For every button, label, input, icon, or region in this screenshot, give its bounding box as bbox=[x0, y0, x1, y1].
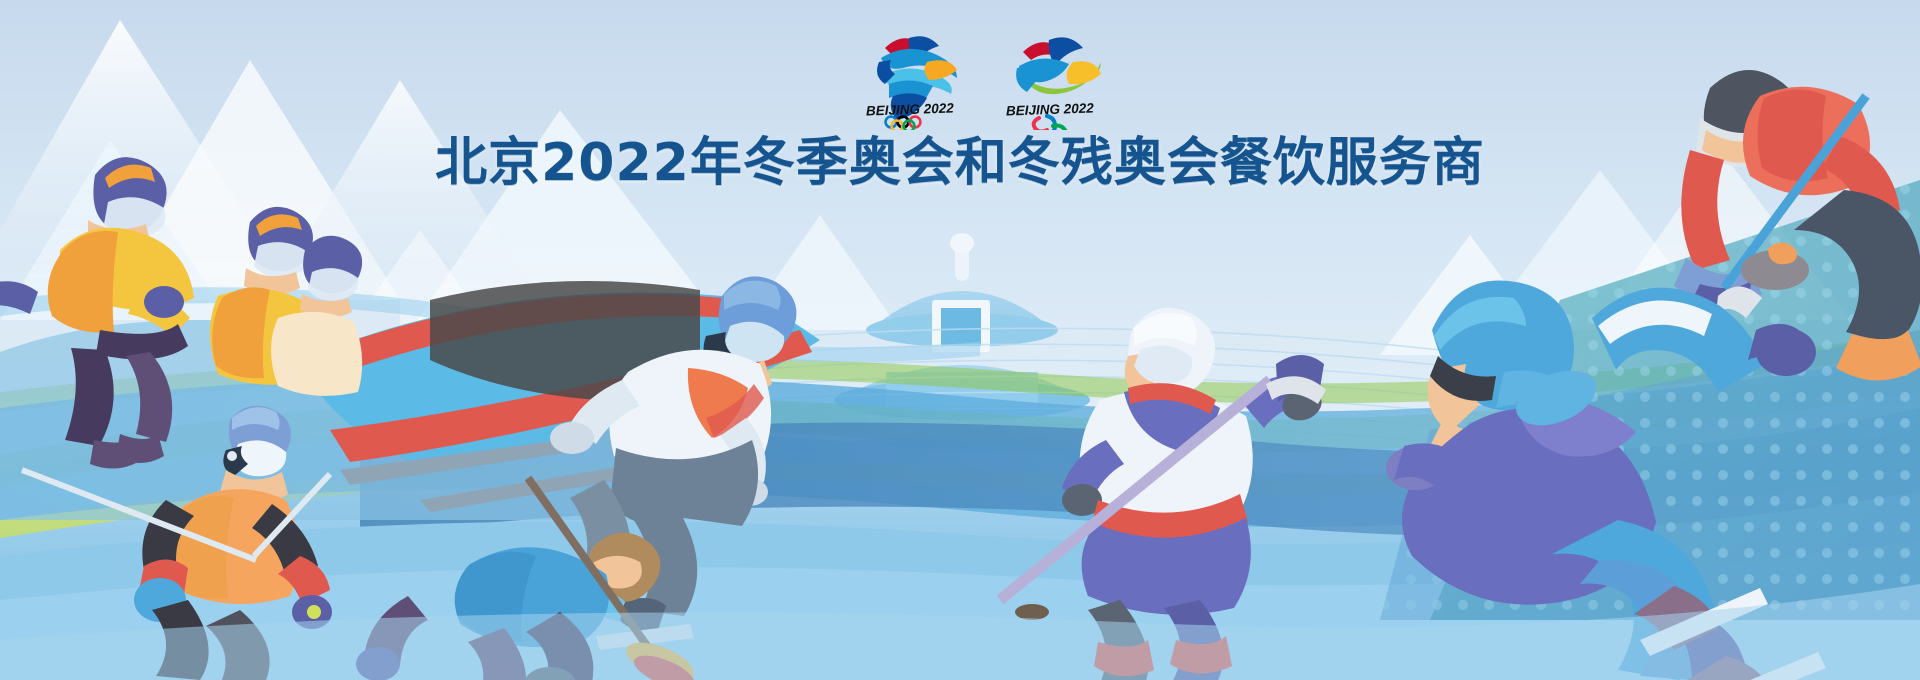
beijing-2022-catering-banner: BEIJING 2022 BEIJING 2022 bbox=[0, 0, 1920, 680]
paralympic-emblem: BEIJING 2022 bbox=[995, 22, 1105, 130]
olympic-emblem: BEIJING 2022 bbox=[855, 22, 965, 130]
banner-title: 北京2022年冬季奥会和冬残奥会餐饮服务商 bbox=[0, 120, 1920, 195]
emblem-group: BEIJING 2022 BEIJING 2022 bbox=[855, 22, 1105, 132]
svg-text:BEIJING 2022: BEIJING 2022 bbox=[866, 100, 955, 118]
